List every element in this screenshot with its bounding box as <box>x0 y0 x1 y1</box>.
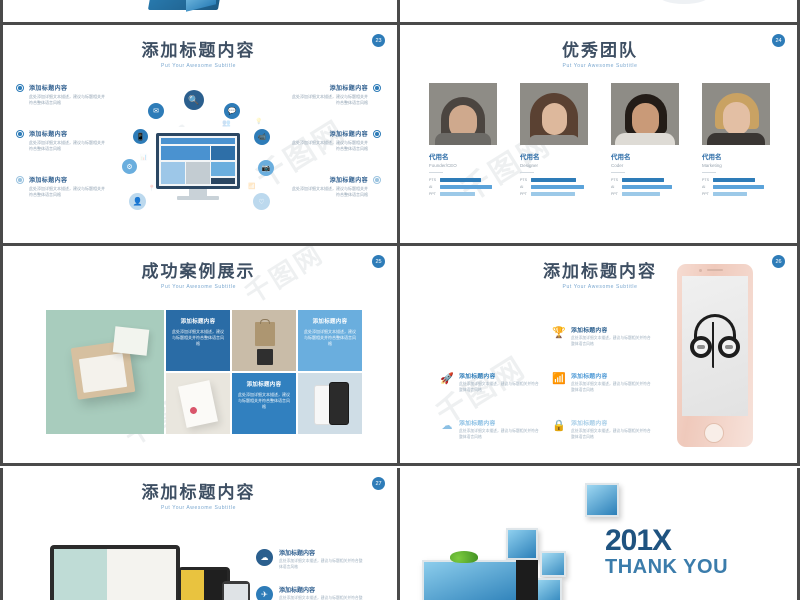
home-button <box>704 423 724 443</box>
team-member-list: 代用名 Founder/CEO PTS AI PPT <box>429 83 770 199</box>
feature-item-left-3[interactable]: 添加标题内容 此处添加详细文本描述，建议与标题相关并符合整体语言风格 <box>16 175 108 198</box>
feature-title: 添加标题内容 <box>29 129 108 138</box>
mail-icon: ✉ <box>148 103 164 119</box>
phone-mockup-photo[interactable] <box>298 373 362 434</box>
item-title: 添加标题内容 <box>459 418 540 427</box>
feature-title: 添加标题内容 <box>289 83 368 92</box>
item-body: 此处添加详细文本描述，建议与标题相关并符合整体语言风格 <box>279 596 364 600</box>
feature-item-right-1[interactable]: 添加标题内容 此处添加详细文本描述，建议与标题相关并符合整体语言风格 <box>289 83 381 106</box>
skill-row: PPT <box>611 192 679 196</box>
divider-vertical <box>397 25 400 243</box>
skill-row: AI <box>429 185 497 189</box>
item-title: 添加标题内容 <box>571 325 652 334</box>
people-ghost-icon: 👥 <box>222 119 231 127</box>
device-feature-cloud[interactable]: ☁ 添加标题内容 此处添加详细文本描述，建议与标题相关并符合整体语言风格 <box>256 548 364 570</box>
slide-24-subtitle: Put Your Awesome Subtitle <box>400 63 800 69</box>
divider <box>520 172 534 173</box>
slide-25-page-number: 25 <box>372 255 385 268</box>
member-name: 代用名 <box>611 151 679 161</box>
cube-icon <box>585 483 619 517</box>
slide-26[interactable]: 千图网 添加标题内容 Put Your Awesome Subtitle 26 … <box>400 246 800 463</box>
feature-title: 添加标题内容 <box>289 129 368 138</box>
divider-vertical <box>397 246 400 463</box>
avatar <box>611 83 679 145</box>
team-member[interactable]: 代用名 Coder PTS AI PPT <box>611 83 679 199</box>
thank-you-block: 201X THANK YOU <box>605 526 728 578</box>
skill-row: PTS <box>429 178 497 182</box>
skill-label: AI <box>702 185 713 189</box>
case-tile-grid: 添加标题内容 此处添加详细文本描述，建议与标题相关并符合整体语言风格 添加标题内… <box>46 310 362 434</box>
bullet-dot-icon <box>373 84 381 92</box>
divider-horizontal <box>0 463 800 466</box>
phone-mockup <box>222 581 250 600</box>
item-body: 此处添加详细文本描述，建议与标题相关并符合整体语言风格 <box>459 382 540 393</box>
bullet-dot-icon <box>16 130 24 138</box>
feature-body: 此处添加详细文本描述，建议与标题相关并符合整体语言风格 <box>289 186 368 198</box>
slide-24[interactable]: 千图网 优秀团队 Put Your Awesome Subtitle 24 代用… <box>400 25 800 243</box>
skill-bar <box>440 178 481 182</box>
case-tile-2[interactable]: 添加标题内容 此处添加详细文本描述，建议与标题相关并符合整体语言风格 <box>298 310 362 371</box>
video-icon: 📹 <box>254 129 270 145</box>
year-label: 201X <box>605 526 728 556</box>
slide-23-title: 添加标题内容 <box>0 36 397 61</box>
thank-you-label: THANK YOU <box>605 556 728 578</box>
paper-bag-photo[interactable] <box>232 310 296 371</box>
skill-label: PPT <box>429 192 440 196</box>
cube-stack <box>422 560 522 600</box>
slide-row-previous <box>0 0 800 22</box>
sprout-icon <box>450 551 478 563</box>
bulb-ghost-icon: 💡 <box>255 118 262 125</box>
avatar <box>429 83 497 145</box>
tile-body: 此处添加详细文本描述，建议与标题相关并符合整体语言风格 <box>303 329 357 347</box>
cube-icon <box>506 528 538 560</box>
slide-25-subtitle: Put Your Awesome Subtitle <box>0 284 397 290</box>
feature-body: 此处添加详细文本描述，建议与标题相关并符合整体语言风格 <box>29 94 108 106</box>
item-title: 添加标题内容 <box>279 548 364 557</box>
laptop-mockup <box>50 545 180 600</box>
divider <box>702 172 716 173</box>
feature-item-left-1[interactable]: 添加标题内容 此处添加详细文本描述，建议与标题相关并符合整体语言风格 <box>16 83 108 106</box>
skill-label: AI <box>611 185 622 189</box>
team-member[interactable]: 代用名 Designer PTS AI PPT <box>520 83 588 199</box>
item-body: 此处添加详细文本描述，建议与标题相关并符合整体语言风格 <box>571 336 652 347</box>
tile-title: 添加标题内容 <box>303 317 357 325</box>
skill-bar <box>713 192 747 196</box>
member-role: Designer <box>520 163 588 168</box>
chat-icon: 💬 <box>224 103 240 119</box>
member-name: 代用名 <box>429 151 497 161</box>
team-member[interactable]: 代用名 Marketing PTS AI PPT <box>702 83 770 199</box>
mobile-icon: 📱 <box>133 129 148 144</box>
item-body: 此处添加详细文本描述，建议与标题相关并符合整体语言风格 <box>279 559 364 570</box>
divider-vertical <box>397 468 400 600</box>
skill-bar <box>622 185 672 189</box>
slide-27-subtitle: Put Your Awesome Subtitle <box>0 505 397 511</box>
chart-ghost-icon: 📊 <box>140 154 147 161</box>
feature-item-right-3[interactable]: 添加标题内容 此处添加详细文本描述，建议与标题相关并符合整体语言风格 <box>289 175 381 198</box>
slide-thank-you[interactable]: 201X THANK YOU <box>400 468 800 600</box>
bullet-dot-icon <box>373 130 381 138</box>
search-icon: 🔍 <box>184 90 204 110</box>
lock-icon: 🔒 <box>552 418 566 432</box>
icon-feature-lock[interactable]: 🔒 添加标题内容 此处添加详细文本描述，建议与标题相关并符合整体语言风格 <box>552 418 652 440</box>
skill-bar <box>713 178 755 182</box>
skill-label: PTS <box>611 178 622 182</box>
iphone-mockup <box>677 264 753 447</box>
skill-bar <box>622 192 660 196</box>
cloud-download-icon: ☁ <box>440 418 454 432</box>
skill-bar <box>531 185 584 189</box>
tile-title: 添加标题内容 <box>171 317 225 325</box>
gear-icon: ⚙ <box>122 159 137 174</box>
item-body: 此处添加详细文本描述，建议与标题相关并符合整体语言风格 <box>571 382 652 393</box>
skill-row: PPT <box>702 192 770 196</box>
member-role: Founder/CEO <box>429 163 497 168</box>
slide-grid-preview: 千图网 添加标题内容 Put Your Awesome Subtitle 23 … <box>0 0 800 600</box>
cloud-upload-icon: ☁ <box>256 549 273 566</box>
slide-26-page-number: 26 <box>772 255 785 268</box>
item-body: 此处添加详细文本描述，建议与标题相关并符合整体语言风格 <box>459 429 540 440</box>
case-tile-1[interactable]: 添加标题内容 此处添加详细文本描述，建议与标题相关并符合整体语言风格 <box>166 310 230 371</box>
phone-screen <box>682 276 748 416</box>
tile-title: 添加标题内容 <box>237 380 291 388</box>
slide-27[interactable]: 添加标题内容 Put Your Awesome Subtitle 27 ☁ 添加… <box>0 468 397 600</box>
wifi-icon: 📶 <box>552 371 566 385</box>
skill-row: AI <box>520 185 588 189</box>
feature-body: 此处添加详细文本描述，建议与标题相关并符合整体语言风格 <box>289 94 368 106</box>
avatar <box>702 83 770 145</box>
skill-label: PPT <box>611 192 622 196</box>
shape-partial <box>657 0 711 4</box>
skill-label: AI <box>520 185 531 189</box>
icon-feature-rocket[interactable]: 🚀 添加标题内容 此处添加详细文本描述，建议与标题相关并符合整体语言风格 <box>440 371 540 393</box>
tile-body: 此处添加详细文本描述，建议与标题相关并符合整体语言风格 <box>237 392 291 410</box>
bullet-dot-icon <box>373 176 381 184</box>
heart-icon: ♡ <box>253 193 270 210</box>
skill-label: AI <box>429 185 440 189</box>
feature-item-left-2[interactable]: 添加标题内容 此处添加详细文本描述，建议与标题相关并符合整体语言风格 <box>16 129 108 152</box>
skill-bar <box>440 185 492 189</box>
member-name: 代用名 <box>702 151 770 161</box>
slide-27-page-number: 27 <box>372 477 385 490</box>
skill-row: PPT <box>429 192 497 196</box>
cube-shadow <box>516 560 538 600</box>
avatar <box>520 83 588 145</box>
slide-23-subtitle: Put Your Awesome Subtitle <box>0 63 397 69</box>
cloud-ghost-icon: ☁ <box>178 121 185 129</box>
divider <box>611 172 625 173</box>
skill-label: PTS <box>520 178 531 182</box>
icon-feature-trophy[interactable]: 🏆 添加标题内容 此处添加详细文本描述，建议与标题相关并符合整体语言风格 <box>552 325 652 347</box>
skill-row: AI <box>611 185 679 189</box>
monitor-illustration <box>156 133 240 200</box>
skill-label: PPT <box>520 192 531 196</box>
divider <box>429 172 443 173</box>
slide-23-page-number: 23 <box>372 34 385 47</box>
skill-row: PPT <box>520 192 588 196</box>
feature-title: 添加标题内容 <box>29 175 108 184</box>
device-feature-send[interactable]: ✈ 添加标题内容 此处添加详细文本描述，建议与标题相关并符合整体语言风格 <box>256 585 364 600</box>
cube-icon <box>540 551 566 577</box>
skill-row: PTS <box>611 178 679 182</box>
team-member[interactable]: 代用名 Founder/CEO PTS AI PPT <box>429 83 497 199</box>
feature-body: 此处添加详细文本描述，建议与标题相关并符合整体语言风格 <box>289 140 368 152</box>
item-title: 添加标题内容 <box>279 585 364 594</box>
item-title: 添加标题内容 <box>459 371 540 380</box>
feature-body: 此处添加详细文本描述，建议与标题相关并符合整体语言风格 <box>29 140 108 152</box>
case-tile-3[interactable]: 添加标题内容 此处添加详细文本描述，建议与标题相关并符合整体语言风格 <box>232 373 296 434</box>
stationery-box-photo[interactable] <box>46 310 164 434</box>
wifi-ghost-icon: 📶 <box>248 183 255 190</box>
member-role: Marketing <box>702 163 770 168</box>
item-body: 此处添加详细文本描述，建议与标题相关并符合整体语言风格 <box>571 429 652 440</box>
skill-bar <box>531 178 576 182</box>
letterhead-photo[interactable] <box>166 373 230 434</box>
slide-partial-right[interactable] <box>397 0 800 22</box>
feature-title: 添加标题内容 <box>289 175 368 184</box>
icon-feature-wifi[interactable]: 📶 添加标题内容 此处添加详细文本描述，建议与标题相关并符合整体语言风格 <box>552 371 652 393</box>
bullet-dot-icon <box>16 84 24 92</box>
cube-icon <box>534 578 562 600</box>
skill-bar <box>440 192 475 196</box>
divider-vertical <box>397 0 400 22</box>
tile-body: 此处添加详细文本描述，建议与标题相关并符合整体语言风格 <box>171 329 225 347</box>
user-icon: 👤 <box>129 193 146 210</box>
feature-title: 添加标题内容 <box>29 83 108 92</box>
slide-24-page-number: 24 <box>772 34 785 47</box>
skill-row: AI <box>702 185 770 189</box>
send-icon: ✈ <box>256 586 273 600</box>
item-title: 添加标题内容 <box>571 418 652 427</box>
skill-bar <box>622 178 664 182</box>
feature-body: 此处添加详细文本描述，建议与标题相关并符合整体语言风格 <box>29 186 108 198</box>
bullet-dot-icon <box>16 176 24 184</box>
image-icon: 📷 <box>258 160 274 176</box>
item-title: 添加标题内容 <box>571 371 652 380</box>
slide-27-title: 添加标题内容 <box>0 478 397 503</box>
rocket-icon: 🚀 <box>440 371 454 385</box>
slide-23[interactable]: 千图网 添加标题内容 Put Your Awesome Subtitle 23 … <box>0 25 397 243</box>
slide-25-title: 成功案例展示 <box>0 257 397 282</box>
skill-label: PPT <box>702 192 713 196</box>
slide-24-title: 优秀团队 <box>400 36 800 61</box>
pin-ghost-icon: 📍 <box>148 185 155 192</box>
skill-label: PTS <box>702 178 713 182</box>
feature-item-right-2[interactable]: 添加标题内容 此处添加详细文本描述，建议与标题相关并符合整体语言风格 <box>289 129 381 152</box>
slide-25[interactable]: 千图网 千图网 成功案例展示 Put Your Awesome Subtitle… <box>0 246 397 463</box>
slide-partial-left[interactable] <box>0 0 397 22</box>
skill-row: PTS <box>520 178 588 182</box>
skill-bar <box>713 185 764 189</box>
member-name: 代用名 <box>520 151 588 161</box>
trophy-icon: 🏆 <box>552 325 566 339</box>
icon-feature-cloud[interactable]: ☁ 添加标题内容 此处添加详细文本描述，建议与标题相关并符合整体语言风格 <box>440 418 540 440</box>
skill-label: PTS <box>429 178 440 182</box>
member-role: Coder <box>611 163 679 168</box>
skill-bar <box>531 192 575 196</box>
skill-row: PTS <box>702 178 770 182</box>
